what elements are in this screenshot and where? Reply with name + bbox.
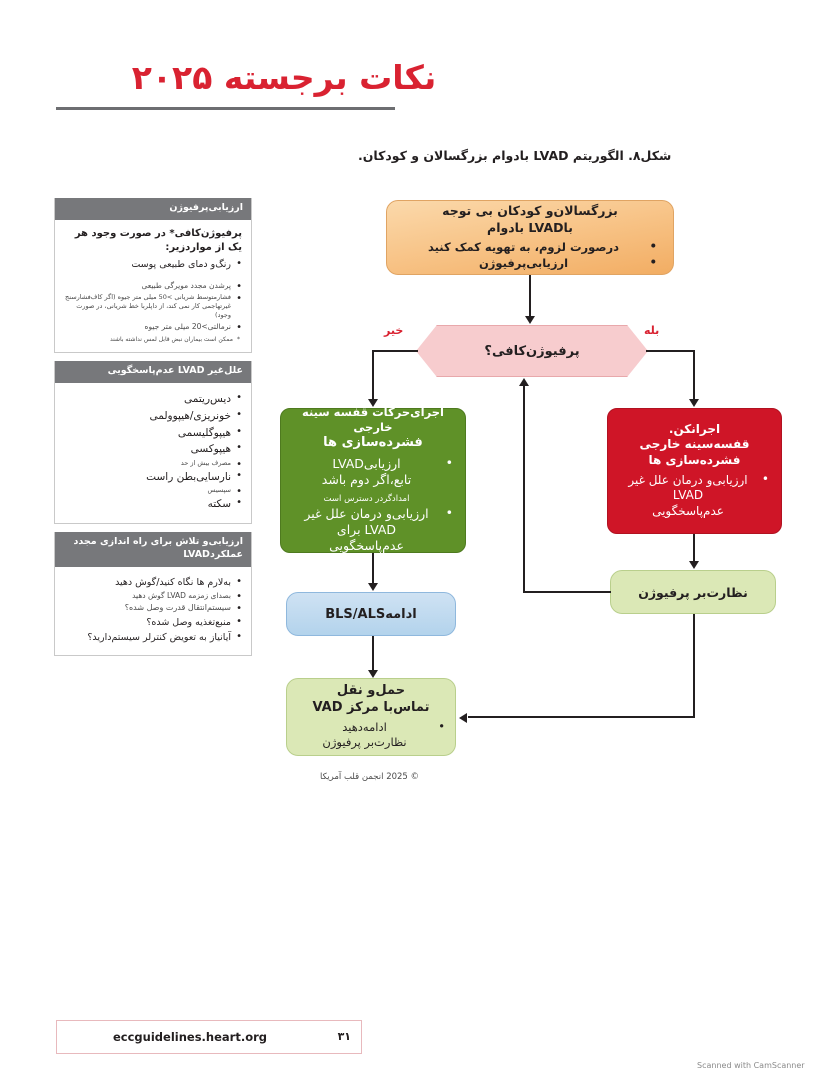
list-item: خونریزی/هیپوولمی [64,409,242,424]
node-bullets: ارزیابی‌و درمان علل غیر LVAD عدم‌پاسخگوی… [618,472,771,521]
list-item: ارزیابی‌LVAD تابع،اگر دوم باشد امدادگردر… [291,456,455,505]
connector-monitor-feedback-horizontal [523,591,611,593]
list-item: هیپوگلیسمی [64,426,242,441]
list-item: دیس‌ریتمی [64,392,242,407]
panel-list: دیس‌ریتمی خونریزی/هیپوولمی هیپوگلیسمی هی… [64,392,242,512]
list-item: آیانیاز به تعویض کنترلر سیستم‌دارید؟ [64,631,242,644]
flow-node-start: بزرگسالان‌و کودکان بی توجه باLVAD بادوام… [386,200,674,275]
bullet-line: عدم‌پاسخگویی [652,504,724,518]
list-item: ارزیابی‌و درمان علل غیر LVAD برای عدم‌پا… [291,506,455,555]
page-root: نکات برجسته ۲۰۲۵ شکل۸. الگوریتم LVAD باد… [0,0,834,1080]
connector-no-horizontal [372,350,418,352]
connector-start-to-decision [529,275,531,317]
panel-body: به‌لارم ها نگاه کنید/گوش دهید بصدای زمزم… [55,567,251,656]
flow-node-decision-adequate-perfusion: پرفیوژن‌کافی؟ [416,325,648,377]
list-item: نارسایی‌بطن راست [64,470,242,485]
bullet-line: عدم‌پاسخگویی [329,538,404,553]
list-item: بصدای زمزمه LVAD گوش دهید [64,591,242,601]
list-item: منبع‌تغذیه وصل شده؟ [64,616,242,629]
panel-list: رنگ‌و دمای طبیعی پوست پرشدن مجدد مویرگی … [64,258,242,332]
panel-heading: ارزیابی‌پرفیوژن [55,198,251,220]
list-item: ادامه‌دهید نظارت‌بر پرفیوژن [295,720,447,750]
sidebar: ارزیابی‌پرفیوژن پرفیوژن‌کافی* در صورت وج… [56,198,252,656]
sidebar-panel-non-lvad-causes: علل‌غیر LVAD عدم‌پاسخگویی دیس‌ریتمی خونر… [54,361,252,523]
arrowhead-down [689,399,699,407]
node-bullets: درصورت لزوم، به تهویه کمک کنید ارزیابی‌پ… [401,239,659,272]
branch-label-no: خیر [384,324,403,337]
list-item: به‌لارم ها نگاه کنید/گوش دهید [64,576,242,589]
panel-heading: علل‌غیر LVAD عدم‌پاسخگویی [55,361,251,383]
list-item: هیپوکسی [64,442,242,457]
bullet-line: ادامه‌دهید [342,720,387,734]
node-title: بزرگسالان‌و کودکان بی توجه باLVAD بادوام [401,203,659,236]
camscanner-watermark: Scanned with CamScanner [697,1061,805,1070]
panel-list: به‌لارم ها نگاه کنید/گوش دهید بصدای زمزم… [64,576,242,645]
header-divider [56,107,395,110]
list-item: سیستم‌انتقال قدرت وصل شده؟ [64,603,242,614]
arrowhead-left [459,713,467,723]
sidebar-panel-restart-lvad: ارزیابی‌و تلاش برای راه اندازی مجدد عملک… [54,532,252,656]
arrowhead-down [368,583,378,591]
bullet-subtext: امدادگردر دسترس است [324,494,410,504]
list-item: درصورت لزوم، به تهویه کمک کنید [401,240,659,255]
bullet-line: ارزیابی‌و درمان علل غیر [304,506,428,521]
panel-body: پرفیوژن‌کافی* در صورت وجود هر یک از موار… [55,220,251,353]
flow-node-continue-bls-als: ادامه‌BLS/ALS [286,592,456,636]
sidebar-panel-perfusion-assessment: ارزیابی‌پرفیوژن پرفیوژن‌کافی* در صورت وج… [54,198,252,353]
connector-red-to-monitor [693,534,695,562]
list-item: پرشدن مجدد مویرگی طبیعی [64,281,242,291]
panel-lead-text: پرفیوژن‌کافی* در صورت وجود هر یک از موار… [64,227,242,256]
bullet-line: LVAD برای [337,522,396,537]
flow-node-do-not-perform-compressions: اجرانکن. قفسه‌سینه خارجی فشرده‌سازی ها ا… [607,408,782,534]
bullet-line: ارزیابی‌و درمان علل غیر [628,473,747,487]
panel-footnote: ممکن است بیماران نبض قابل لمس نداشته باش… [64,336,242,344]
flow-node-transport-contact-vad-center: حمل‌و نقل تماس‌با مرکز VAD ادامه‌دهید نظ… [286,678,456,756]
page-footer: ۳۱ eccguidelines.heart.org [56,1020,362,1054]
connector-yes-horizontal [646,350,695,352]
page-title: نکات برجسته ۲۰۲۵ [124,58,444,97]
copyright-notice: © 2025 انجمن قلب آمریکا [252,772,834,782]
panel-body: دیس‌ریتمی خونریزی/هیپوولمی هیپوگلیسمی هی… [55,383,251,523]
page-number: ۳۱ [338,1030,351,1043]
node-bullets: ادامه‌دهید نظارت‌بر پرفیوژن [295,719,447,751]
flow-node-monitor-perfusion: نظارت‌بر پرفیوژن [610,570,776,614]
connector-green-to-bls [372,553,374,584]
list-item: سپسیس [64,486,242,495]
arrowhead-up [519,378,529,386]
bullet-line: نظارت‌بر پرفیوژن [322,735,406,749]
flow-node-perform-compressions: اجرای‌حرکات قفسه سینه خارجی فشرده‌سازی ه… [280,408,466,553]
list-item: فشارمتوسط شریانی >50 میلی متر جیوه (اگر … [64,293,242,319]
panel-heading: ارزیابی‌و تلاش برای راه اندازی مجدد عملک… [55,532,251,567]
list-item: سکته [64,497,242,512]
node-bullets: ارزیابی‌LVAD تابع،اگر دوم باشد امدادگردر… [291,455,455,556]
bullet-line: تابع،اگر دوم باشد [322,472,411,487]
list-item: رنگ‌و دمای طبیعی پوست [64,258,242,271]
bullet-line: LVAD [673,488,703,502]
bullet-line: ارزیابی‌LVAD [332,456,400,471]
panel-gap [56,524,252,532]
node-title: حمل‌و نقل تماس‌با مرکز VAD [295,683,447,717]
footer-url[interactable]: eccguidelines.heart.org [113,1030,267,1044]
arrowhead-down [689,561,699,569]
connector-monitor-to-transport-vertical [693,614,695,718]
connector-no-vertical [372,350,374,400]
list-item: ارزیابی‌پرفیوژن [401,256,659,271]
node-title: اجرانکن. قفسه‌سینه خارجی فشرده‌سازی ها [618,422,771,469]
connector-yes-vertical [693,350,695,400]
list-item: ارزیابی‌و درمان علل غیر LVAD عدم‌پاسخگوی… [618,473,771,520]
node-label: نظارت‌بر پرفیوژن [611,585,775,600]
connector-monitor-to-transport-horizontal [468,716,695,718]
connector-monitor-feedback-vertical [523,385,525,593]
panel-gap [56,353,252,361]
arrowhead-down [368,670,378,678]
connector-bls-to-transport [372,636,374,671]
arrowhead-down [525,316,535,324]
list-item: نرمالتی>20 میلی متر جیوه [64,322,242,332]
node-title: اجرای‌حرکات قفسه سینه خارجی فشرده‌سازی ه… [291,405,455,452]
node-label: پرفیوژن‌کافی؟ [417,344,647,359]
branch-label-yes: بله [644,324,659,337]
page-header: نکات برجسته ۲۰۲۵ [0,28,834,88]
list-item: مصرف بیش از حد [64,459,242,468]
lvad-algorithm-flowchart: بزرگسالان‌و کودکان بی توجه باLVAD بادوام… [252,150,834,810]
node-label: ادامه‌BLS/ALS [287,607,455,622]
